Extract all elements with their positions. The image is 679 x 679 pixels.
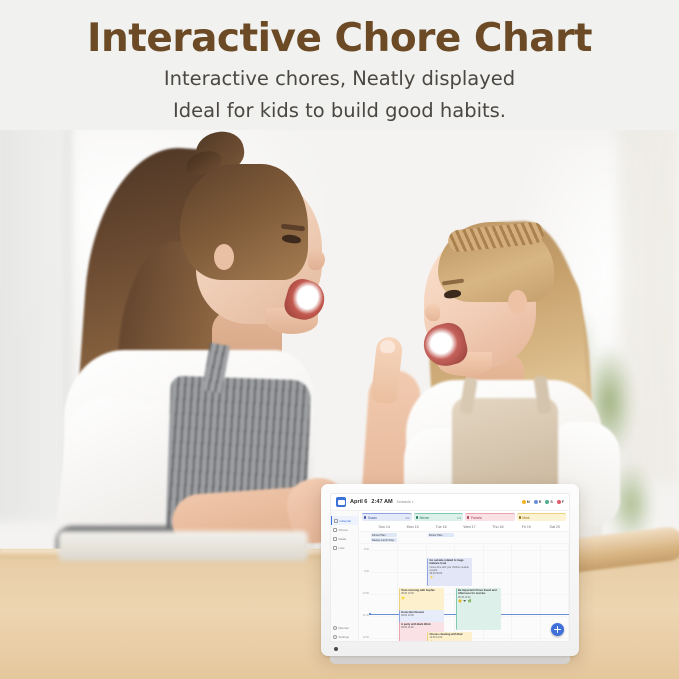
sidebar-item-label: Member bbox=[339, 626, 350, 630]
cutting-board bbox=[58, 531, 308, 561]
hour-gridline bbox=[512, 572, 539, 573]
child-ear bbox=[508, 290, 527, 314]
calendar-event[interactable]: Chores cleaning with Dad10:30 12:00👍 bbox=[427, 632, 472, 641]
sidebar-item-label: Settings bbox=[339, 635, 349, 639]
category-label: Steven bbox=[419, 516, 429, 520]
category-count: 1/3 bbox=[457, 516, 461, 520]
tablet-device: April 6 2:47 AM Schedule ▾ MRSF Calendar… bbox=[321, 484, 579, 656]
fork-icon bbox=[333, 537, 337, 541]
day-header[interactable]: Tue 16 bbox=[427, 523, 455, 531]
member-color-dot bbox=[557, 500, 561, 504]
all-day-cell[interactable] bbox=[455, 532, 483, 543]
sidebar-item-label: Meals bbox=[339, 537, 347, 541]
category-label: Susan bbox=[368, 516, 377, 520]
all-day-chip[interactable]: Recipe Lunch Prep bbox=[371, 538, 397, 542]
all-day-chip[interactable]: Dinner Plan bbox=[371, 533, 397, 537]
hour-gridline bbox=[455, 550, 482, 551]
category-color-dot bbox=[519, 516, 521, 518]
user-circle-icon bbox=[333, 626, 337, 630]
day-columns[interactable]: Todo morning with Sophie08:30 10:00🌟Home… bbox=[370, 544, 569, 641]
day-header[interactable]: Wed 17 bbox=[455, 523, 483, 531]
calendar-main: Susan0/2Steven1/3PamelaMark Sun 14Mon 15… bbox=[359, 511, 569, 641]
calendar-event[interactable]: Todo morning with Sophie08:30 10:00🌟 bbox=[399, 588, 444, 612]
hour-gridline bbox=[370, 616, 397, 617]
hour-gridline bbox=[370, 572, 397, 573]
member-color-dot bbox=[545, 500, 549, 504]
all-day-cell[interactable]: Dinner PlanRecipe Lunch Prep bbox=[370, 532, 398, 543]
sidebar-item-lists[interactable]: Lists bbox=[331, 543, 358, 552]
all-day-cell[interactable] bbox=[484, 532, 512, 543]
hour-gridline bbox=[370, 550, 397, 551]
category-tab-mark[interactable]: Mark bbox=[517, 513, 567, 521]
event-time: 09:30 11:00 bbox=[401, 626, 443, 629]
day-column[interactable] bbox=[512, 544, 540, 641]
sparkle-icon bbox=[333, 528, 337, 532]
time-label: 12:00 bbox=[363, 636, 370, 639]
hour-gridline bbox=[541, 594, 568, 595]
sidebar-item-label: Chores bbox=[339, 528, 348, 532]
hour-gridline bbox=[398, 550, 425, 551]
day-header[interactable]: Fri 19 bbox=[512, 523, 540, 531]
day-header-row: Sun 14Mon 15Tue 16Wed 17Thu 18Fri 19Sat … bbox=[359, 523, 569, 532]
hour-gridline bbox=[484, 550, 511, 551]
event-emoji: 🌟 bbox=[401, 596, 443, 600]
day-column[interactable] bbox=[370, 544, 398, 641]
category-label: Pamela bbox=[471, 516, 482, 520]
calendar-event[interactable]: Be Important Chore Event and Afternoon f… bbox=[456, 588, 501, 630]
tablet-screen: April 6 2:47 AM Schedule ▾ MRSF Calendar… bbox=[330, 493, 570, 642]
category-tab-pamela[interactable]: Pamela bbox=[465, 513, 515, 521]
sidebar-item-meals[interactable]: Meals bbox=[331, 534, 358, 543]
mother-hair-front bbox=[180, 164, 308, 280]
calendar-icon bbox=[334, 519, 338, 523]
time-gutter: 8:009:0010:0011:0012:00 bbox=[359, 544, 370, 641]
all-day-cell[interactable]: Dinner Plan bbox=[427, 532, 455, 543]
sidebar-item-label: Lists bbox=[339, 546, 345, 550]
category-tab-steven[interactable]: Steven1/3 bbox=[414, 513, 464, 521]
time-label: 10:00 bbox=[363, 592, 370, 595]
event-emoji: 👍 bbox=[430, 640, 472, 641]
promo-header: Interactive Chore Chart Interactive chor… bbox=[0, 0, 679, 130]
member-chip-f[interactable]: F bbox=[557, 500, 564, 504]
category-tab-susan[interactable]: Susan0/2 bbox=[362, 513, 412, 521]
hour-gridline bbox=[398, 572, 425, 573]
hour-gridline bbox=[541, 616, 568, 617]
category-count: 0/2 bbox=[406, 516, 410, 520]
all-day-row: Dinner PlanRecipe Lunch PrepDinner Plan bbox=[359, 532, 569, 544]
page-title: Interactive Chore Chart bbox=[0, 19, 679, 60]
member-filter-list: MRSF bbox=[522, 500, 564, 504]
time-label: 9:00 bbox=[364, 570, 369, 573]
hour-gridline bbox=[541, 572, 568, 573]
hour-gridline bbox=[512, 594, 539, 595]
hour-gridline bbox=[370, 594, 397, 595]
wall-panel bbox=[0, 122, 70, 522]
category-label: Mark bbox=[522, 516, 529, 520]
calendar-icon bbox=[336, 497, 346, 507]
list-icon bbox=[333, 546, 337, 550]
view-selector-label: Schedule bbox=[397, 500, 411, 504]
sidebar-item-settings[interactable]: Settings bbox=[331, 632, 358, 641]
event-title: Be Important Chore Event and Afternoon f… bbox=[458, 589, 500, 596]
hour-gridline bbox=[427, 550, 454, 551]
member-initial: M bbox=[527, 500, 530, 504]
add-event-fab[interactable] bbox=[551, 623, 564, 636]
sidebar-item-label: Calendar bbox=[340, 519, 352, 523]
page-subtitle-line2: Ideal for kids to build good habits. bbox=[0, 98, 679, 124]
day-header[interactable]: Thu 18 bbox=[484, 523, 512, 531]
member-color-dot bbox=[522, 500, 526, 504]
page-subtitle-line1: Interactive chores, Neatly displayed bbox=[0, 66, 679, 92]
sidebar-spacer bbox=[331, 552, 358, 623]
event-time: 09:00 10:00 bbox=[401, 614, 443, 617]
mother-ear bbox=[214, 244, 234, 270]
sidebar-item-member[interactable]: Member bbox=[331, 623, 358, 632]
event-emoji: ⚡ bbox=[430, 575, 472, 579]
chevron-down-icon: ▾ bbox=[412, 500, 414, 504]
member-initial: S bbox=[550, 500, 552, 504]
hour-gridline bbox=[484, 572, 511, 573]
hour-gridline bbox=[541, 550, 568, 551]
view-selector[interactable]: Schedule ▾ bbox=[397, 500, 414, 504]
event-title: Go outside related to huge balance food bbox=[430, 559, 472, 566]
day-column[interactable]: Todo morning with Sophie08:30 10:00🌟Home… bbox=[398, 544, 426, 641]
app-body: CalendarChoresMealsLists MemberSettings … bbox=[331, 511, 569, 641]
tablet-sensor-dot bbox=[334, 647, 338, 651]
current-date: April 6 bbox=[350, 499, 367, 505]
all-day-cell[interactable] bbox=[398, 532, 426, 543]
sidebar-item-chores[interactable]: Chores bbox=[331, 525, 358, 534]
hour-gridline bbox=[370, 638, 397, 639]
hour-gridline bbox=[512, 638, 539, 639]
time-label: 11:00 bbox=[363, 614, 369, 617]
member-chip-s[interactable]: S bbox=[545, 500, 552, 504]
all-day-cell[interactable] bbox=[512, 532, 540, 543]
hour-gridline bbox=[541, 638, 568, 639]
sidebar-item-calendar[interactable]: Calendar bbox=[331, 516, 358, 525]
member-chip-r[interactable]: R bbox=[534, 500, 542, 504]
member-initial: F bbox=[562, 500, 564, 504]
day-header[interactable]: Sat 20 bbox=[541, 523, 569, 531]
event-emoji: 😊 ❤ 🌿 bbox=[458, 599, 500, 603]
time-grid[interactable]: 8:009:0010:0011:0012:00 Todo morning wit… bbox=[359, 544, 569, 641]
category-tabs: Susan0/2Steven1/3PamelaMark bbox=[359, 511, 569, 523]
current-time: 2:47 AM bbox=[371, 499, 392, 505]
calendar-event[interactable]: Go outside related to huge balance foodh… bbox=[427, 558, 472, 586]
hour-gridline bbox=[484, 638, 511, 639]
category-color-dot bbox=[416, 516, 418, 518]
day-header[interactable]: Mon 15 bbox=[398, 523, 426, 531]
child-nose bbox=[425, 304, 440, 321]
app-sidebar: CalendarChoresMealsLists MemberSettings bbox=[331, 511, 359, 641]
member-color-dot bbox=[534, 500, 538, 504]
time-label: 8:00 bbox=[364, 548, 369, 551]
category-color-dot bbox=[467, 516, 469, 518]
mother-fingernail bbox=[380, 340, 395, 353]
member-chip-m[interactable]: M bbox=[522, 500, 530, 504]
category-color-dot bbox=[364, 516, 366, 518]
gear-icon bbox=[333, 635, 337, 639]
hour-gridline bbox=[512, 616, 539, 617]
hour-gridline bbox=[512, 550, 539, 551]
member-initial: R bbox=[539, 500, 542, 504]
all-day-cell[interactable] bbox=[541, 532, 569, 543]
day-header[interactable]: Sun 14 bbox=[370, 523, 398, 531]
app-topbar: April 6 2:47 AM Schedule ▾ MRSF bbox=[331, 494, 569, 511]
all-day-chip[interactable]: Dinner Plan bbox=[428, 533, 454, 537]
